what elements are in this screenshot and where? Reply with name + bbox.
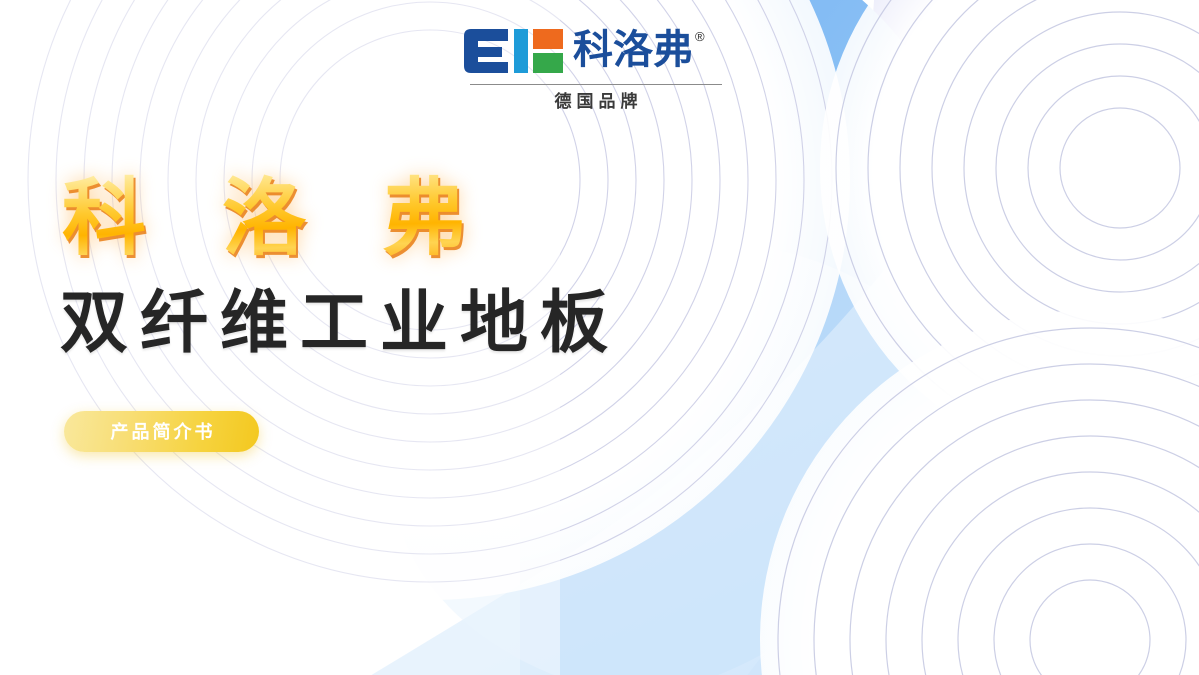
logo-divider xyxy=(470,84,722,85)
product-brochure-badge[interactable]: 产品简介书 xyxy=(64,411,259,452)
title-slide: 科洛弗 ® 德国品牌 科洛弗 双纤维工业地板 产品简介书 xyxy=(0,0,1199,675)
logo-tagline: 德国品牌 xyxy=(470,92,722,112)
kelofu-logo-mark-icon xyxy=(462,28,564,74)
logo-row: 科洛弗 ® xyxy=(462,28,737,78)
logo-wordmark: 科洛弗 xyxy=(573,28,693,72)
hero-headline: 双纤维工业地板 xyxy=(60,283,620,363)
hero-brand-line: 科洛弗 xyxy=(62,166,542,270)
brand-logo: 科洛弗 ® 德国品牌 xyxy=(462,28,737,112)
product-brochure-badge-label: 产品简介书 xyxy=(108,422,216,442)
logo-wordmark-wrap: 科洛弗 ® xyxy=(573,28,705,72)
registered-trademark-icon: ® xyxy=(695,30,705,43)
